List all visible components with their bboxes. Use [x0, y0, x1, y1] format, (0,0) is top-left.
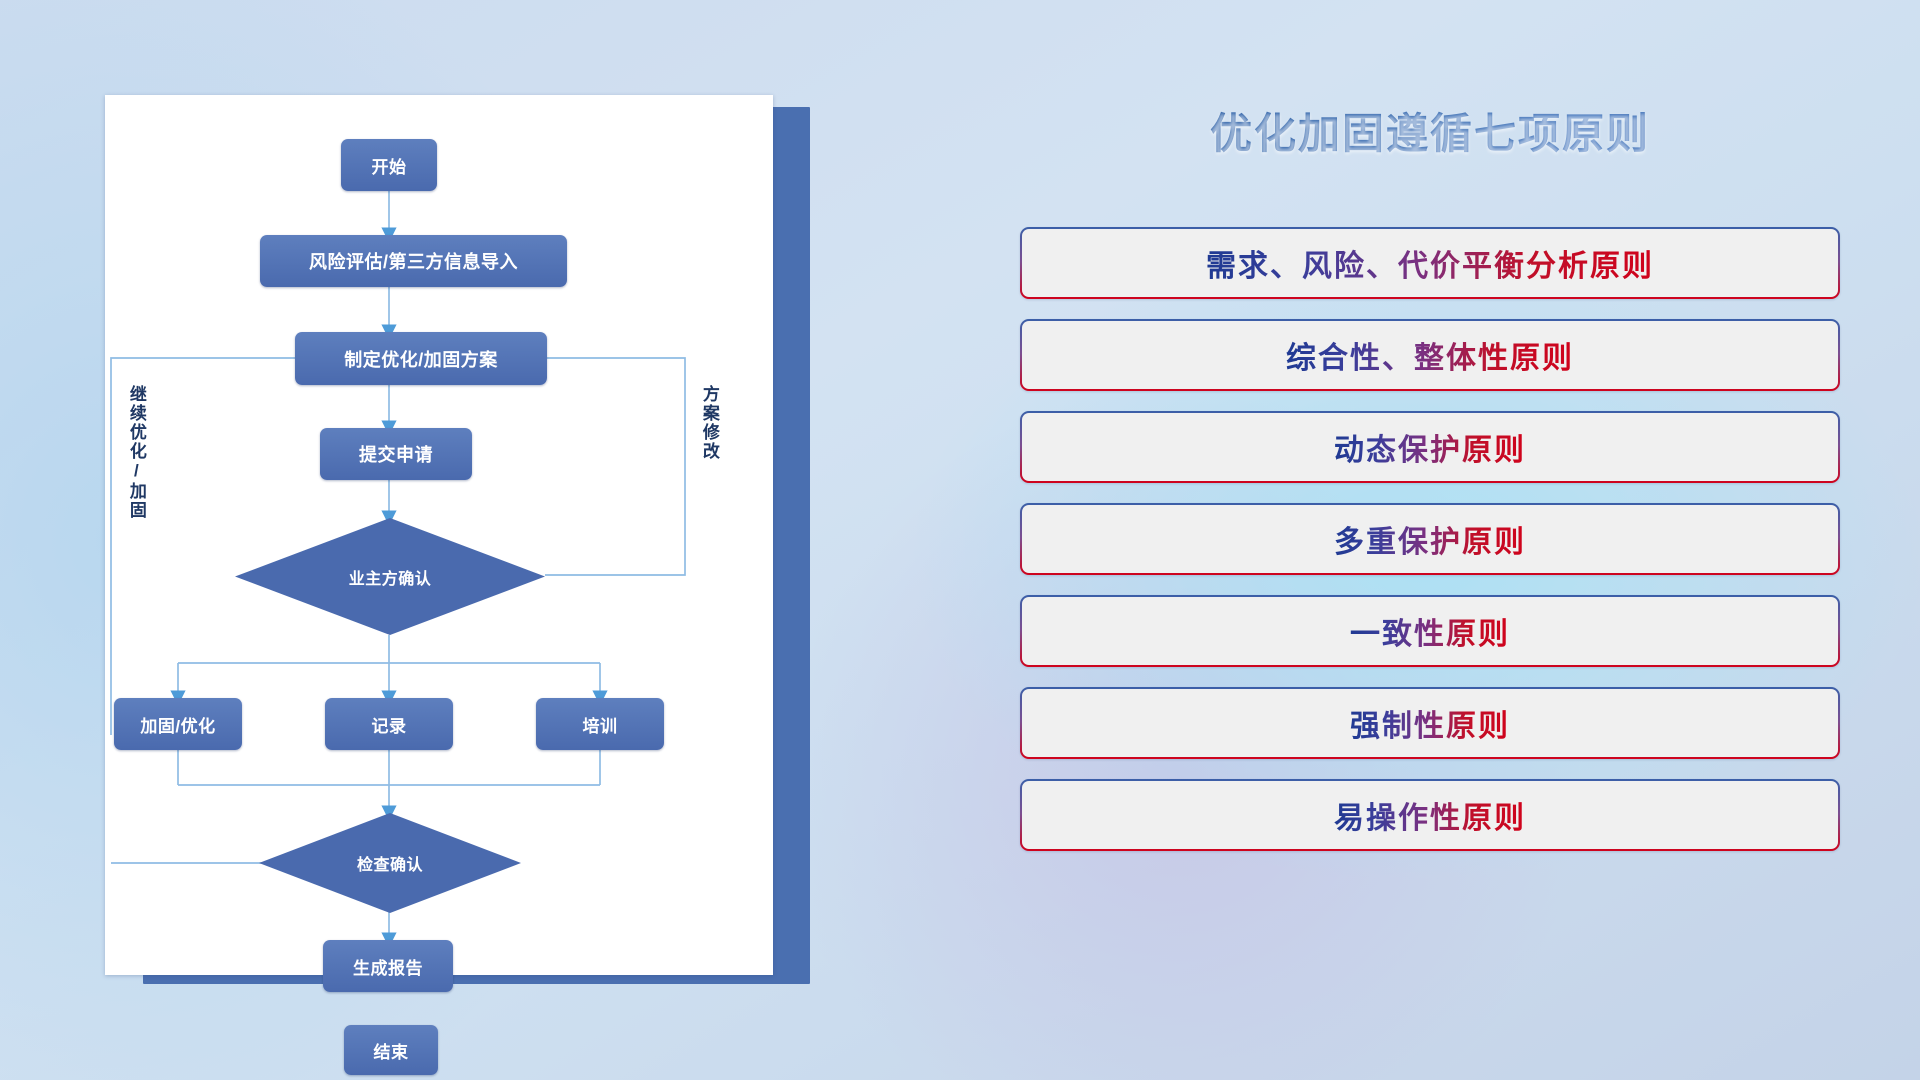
- flow-node-plan[interactable]: 制定优化/加固方案: [295, 332, 547, 385]
- flow-edge-label-plan-revision: 方案修改: [700, 385, 718, 461]
- flow-node-plan-label: 制定优化/加固方案: [344, 346, 498, 372]
- flow-node-end[interactable]: 结束: [344, 1025, 438, 1075]
- flow-node-risk-assessment[interactable]: 风险评估/第三方信息导入: [260, 235, 567, 287]
- flow-node-submit-application[interactable]: 提交申请: [320, 428, 472, 480]
- principle-card-4-label: 多重保护原则: [1334, 517, 1526, 561]
- principle-card-3[interactable]: 动态保护原则: [1020, 411, 1840, 483]
- flow-node-owner-confirm-label: 业主方确认: [349, 565, 432, 589]
- flow-node-generate-report[interactable]: 生成报告: [323, 940, 453, 992]
- flow-edge-label-continue-optimize: 继续优化/加固: [127, 385, 145, 520]
- flow-node-training[interactable]: 培训: [536, 698, 664, 750]
- flow-node-reinforce-optimize-label: 加固/优化: [140, 712, 215, 737]
- principle-card-2[interactable]: 综合性、整体性原则: [1020, 319, 1840, 391]
- principle-card-7-label: 易操作性原则: [1334, 793, 1526, 837]
- principle-card-3-label: 动态保护原则: [1334, 425, 1526, 469]
- principle-card-6[interactable]: 强制性原则: [1020, 687, 1840, 759]
- principle-card-4[interactable]: 多重保护原则: [1020, 503, 1840, 575]
- flow-node-generate-report-label: 生成报告: [353, 954, 423, 979]
- flow-node-end-label: 结束: [374, 1038, 409, 1063]
- principle-card-7[interactable]: 易操作性原则: [1020, 779, 1840, 851]
- flow-node-record-label: 记录: [372, 712, 407, 737]
- flow-node-record[interactable]: 记录: [325, 698, 453, 750]
- principle-card-1-label: 需求、风险、代价平衡分析原则: [1206, 241, 1654, 285]
- principle-card-2-label: 综合性、整体性原则: [1286, 333, 1574, 377]
- principle-card-5[interactable]: 一致性原则: [1020, 595, 1840, 667]
- flow-node-submit-application-label: 提交申请: [359, 441, 433, 467]
- flow-node-check-confirm-label: 检查确认: [357, 851, 423, 875]
- flow-node-start[interactable]: 开始: [341, 139, 437, 191]
- flow-node-risk-assessment-label: 风险评估/第三方信息导入: [309, 248, 518, 274]
- flow-node-reinforce-optimize[interactable]: 加固/优化: [114, 698, 242, 750]
- flowchart-card: 开始 风险评估/第三方信息导入 制定优化/加固方案 提交申请 业主方确认 加固/…: [105, 95, 773, 975]
- panel-title: 优化加固遵循七项原则: [1020, 100, 1840, 161]
- principle-card-6-label: 强制性原则: [1350, 701, 1510, 745]
- flow-node-start-label: 开始: [372, 153, 407, 178]
- principle-card-5-label: 一致性原则: [1350, 609, 1510, 653]
- principles-panel: 优化加固遵循七项原则 需求、风险、代价平衡分析原则 综合性、整体性原则 动态保护…: [1020, 100, 1840, 1000]
- flow-node-training-label: 培训: [583, 712, 618, 737]
- principles-card-list: 需求、风险、代价平衡分析原则 综合性、整体性原则 动态保护原则 多重保护原则 一…: [1020, 227, 1840, 851]
- principle-card-1[interactable]: 需求、风险、代价平衡分析原则: [1020, 227, 1840, 299]
